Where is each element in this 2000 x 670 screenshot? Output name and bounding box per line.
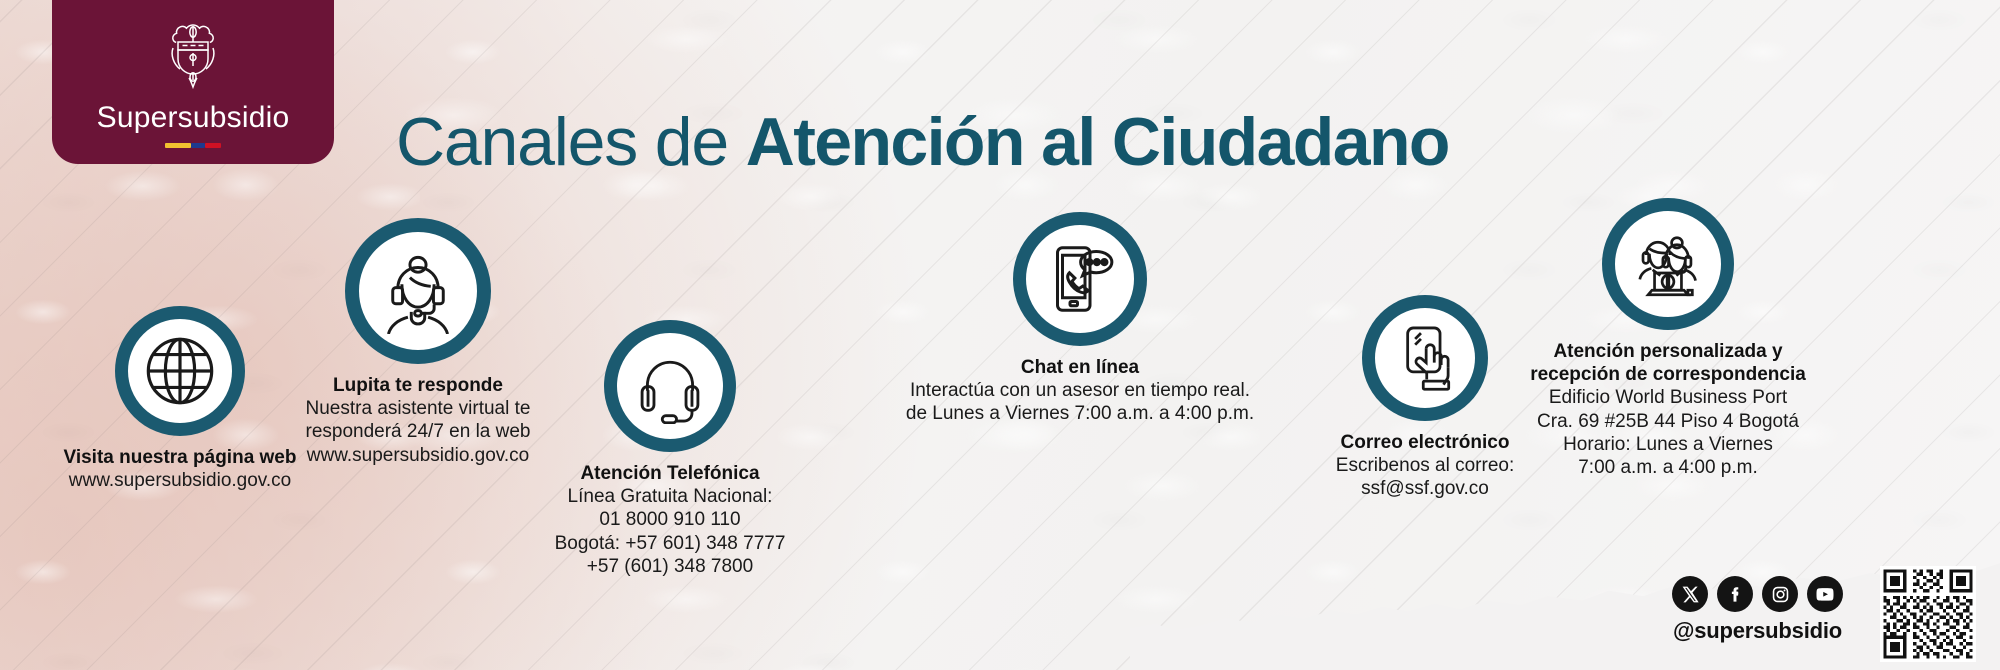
globe-icon-circle [115,306,245,436]
mobile-chat-icon [1040,239,1120,319]
agents-laptop-icon [1627,223,1709,305]
channel-chat-line-1: de Lunes a Viernes 7:00 a.m. a 4:00 p.m. [880,402,1280,425]
channel-presencial[interactable]: Atención personalizada y recepción de co… [1513,198,1823,479]
headset-icon-circle [604,320,736,452]
channel-presencial-line-0: Edificio World Business Port [1513,386,1823,409]
channel-telefonica-line-0: Línea Gratuita Nacional: [520,485,820,508]
channel-presencial-title-0: Atención personalizada y [1513,340,1823,363]
x-twitter-icon[interactable] [1672,576,1708,612]
page-title-bold: Atención al Ciudadano [746,104,1449,180]
page-title: Canales de Atención al Ciudadano [396,106,1449,178]
channel-presencial-title-1: recepción de correspondencia [1513,363,1823,386]
channel-chat-title: Chat en línea [880,356,1280,379]
attention-channels-banner: Supersubsidio Canales de Atención al Ciu… [0,0,2000,670]
brand-wordmark: Supersubsidio [97,103,290,133]
mobile-chat-icon-circle [1013,212,1147,346]
channel-telefonica[interactable]: Atención Telefónica Línea Gratuita Nacio… [520,320,820,578]
channel-web-line-0: www.supersubsidio.gov.co [30,469,330,492]
channel-presencial-line-3: 7:00 a.m. a 4:00 p.m. [1513,456,1823,479]
page-title-light: Canales de [396,104,746,180]
colombia-coat-of-arms-icon [164,22,222,99]
qr-code-icon[interactable] [1880,566,1976,662]
social-handle: @supersubsidio [1673,618,1842,644]
channel-correo-line-1: ssf@ssf.gov.co [1255,477,1595,500]
flag-stripe-red [205,143,221,148]
hand-phone-icon-circle [1362,295,1488,421]
facebook-icon[interactable] [1717,576,1753,612]
channel-telefonica-line-1: 01 8000 910 110 [520,508,820,531]
instagram-icon[interactable] [1762,576,1798,612]
channel-telefonica-title: Atención Telefónica [520,462,820,485]
channel-telefonica-line-3: +57 (601) 348 7800 [520,555,820,578]
social-icons-row [1672,576,1843,612]
channel-presencial-line-1: Cra. 69 #25B 44 Piso 4 Bogotá [1513,410,1823,433]
virtual-assistant-icon-circle [345,218,491,364]
channel-telefonica-line-2: Bogotá: +57 601) 348 7777 [520,532,820,555]
hand-tapping-phone-icon [1388,321,1462,395]
colombia-flag-bar [165,143,221,148]
flag-stripe-blue [191,143,205,148]
channel-chat[interactable]: Chat en línea Interactúa con un asesor e… [880,212,1280,426]
globe-icon [141,332,219,410]
channel-chat-line-0: Interactúa con un asesor en tiempo real. [880,379,1280,402]
channel-presencial-line-2: Horario: Lunes a Viernes [1513,433,1823,456]
supersubsidio-logo-block: Supersubsidio [52,0,334,164]
headset-icon [632,348,708,424]
virtual-assistant-headset-icon [375,248,461,334]
flag-stripe-yellow [165,143,191,148]
youtube-icon[interactable] [1807,576,1843,612]
social-block: @supersubsidio [1672,576,1843,644]
agents-laptop-icon-circle [1602,198,1734,330]
